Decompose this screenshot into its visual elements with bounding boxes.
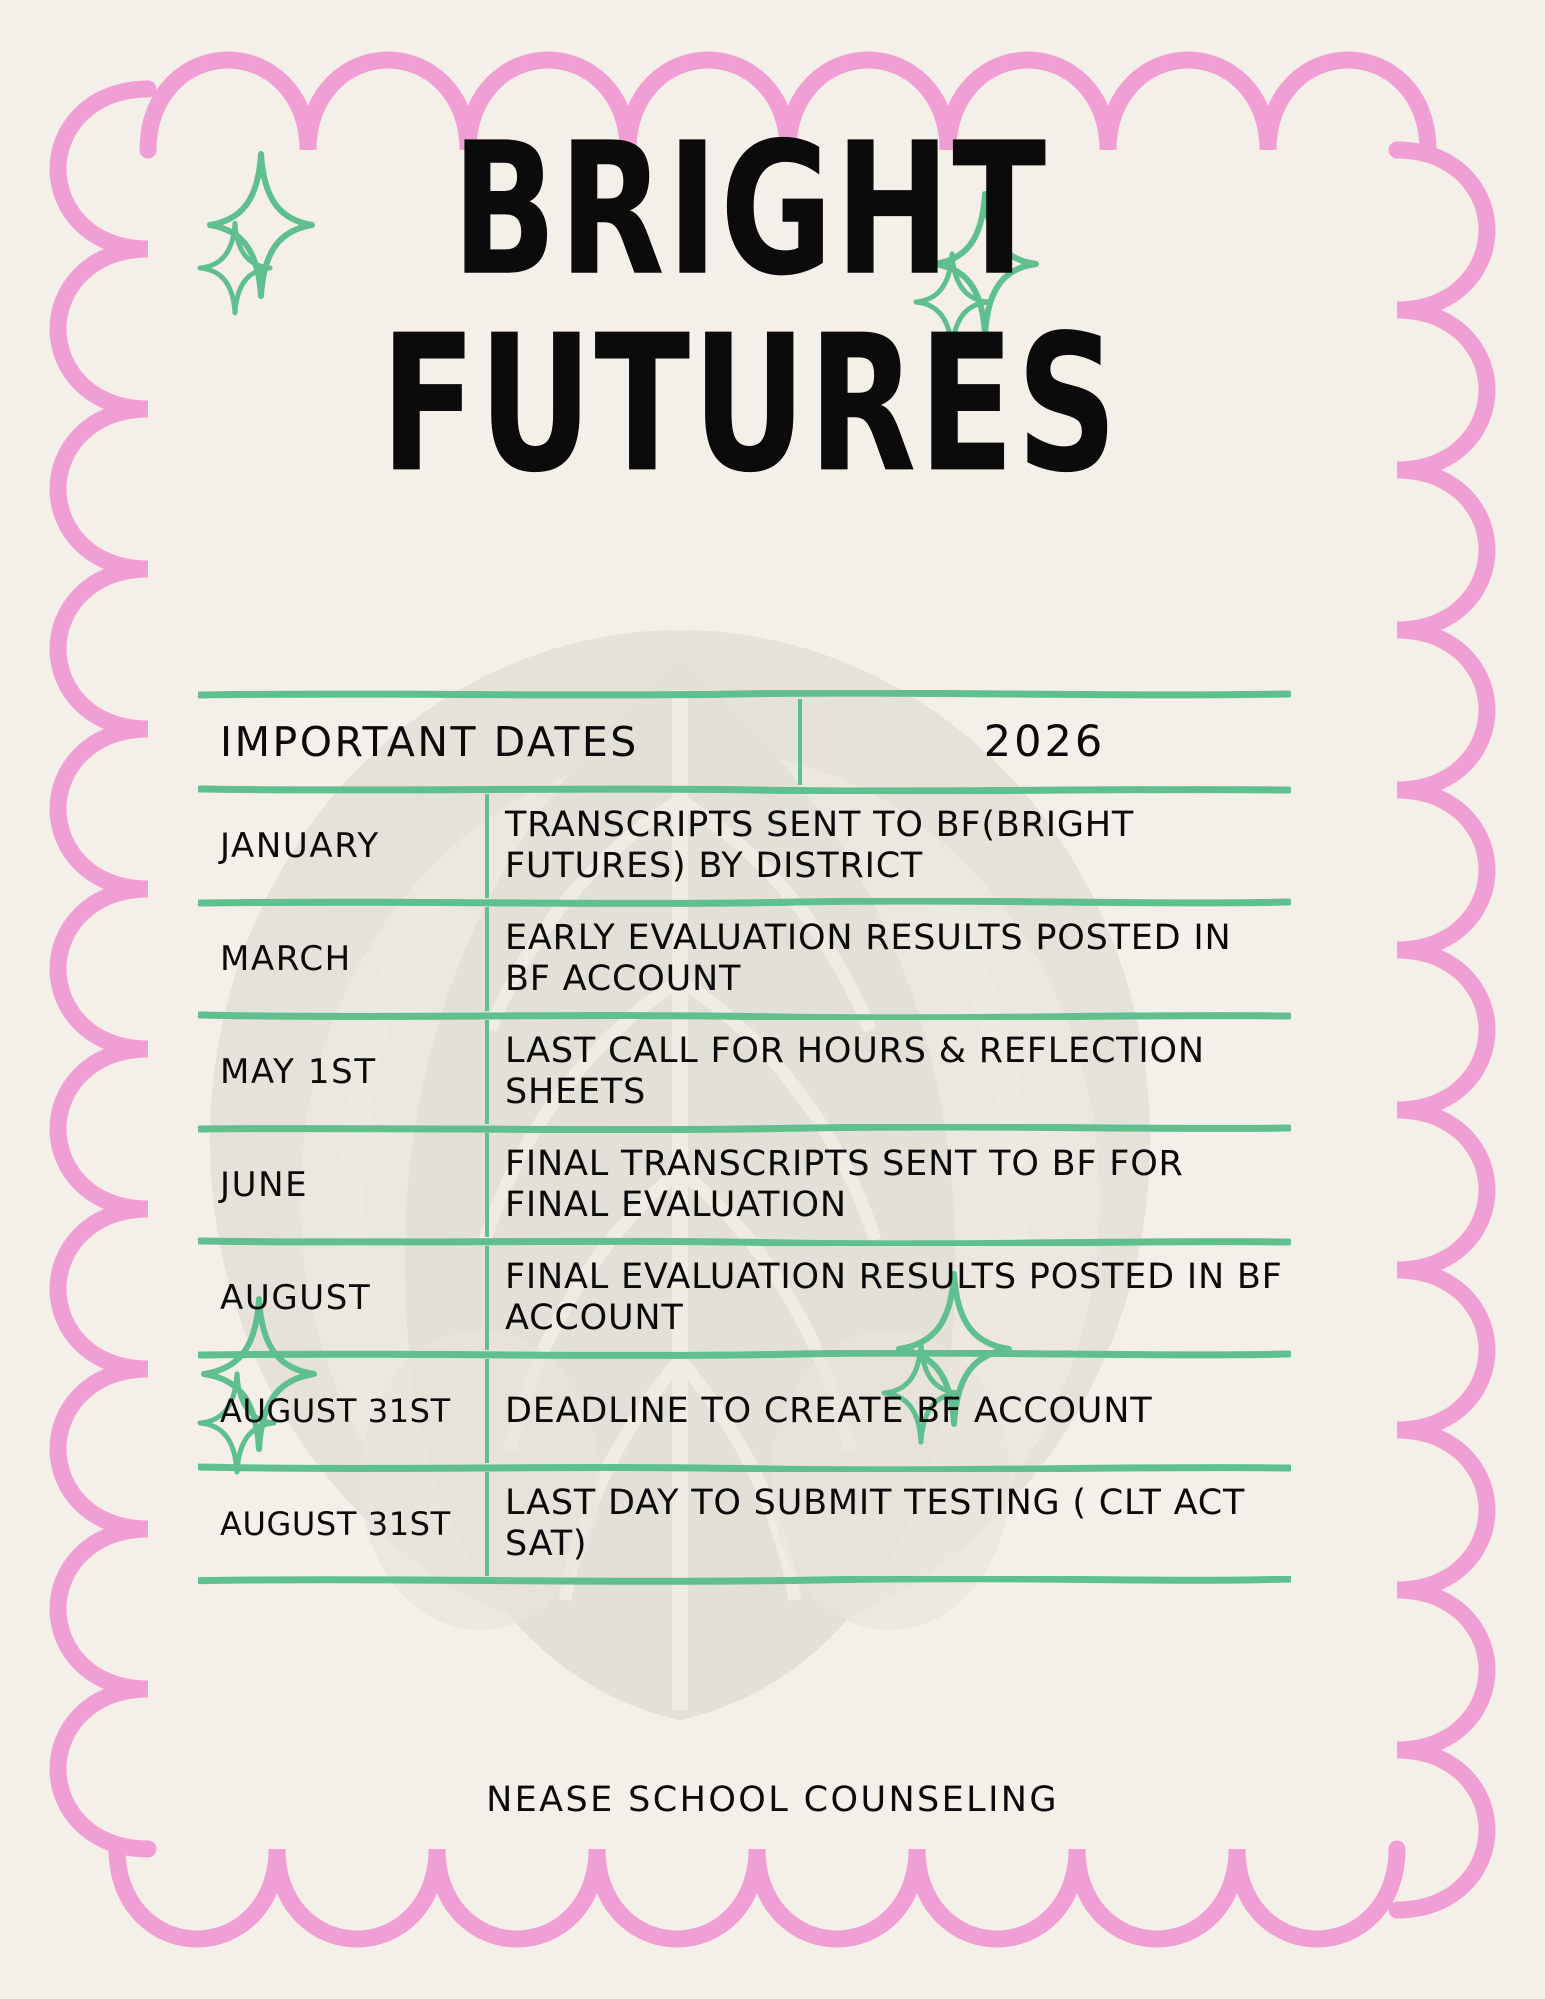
month-label: JUNE [220,1165,308,1205]
month-label: AUGUST [220,1278,371,1318]
table-row: JANUARY TRANSCRIPTS SENT TO BF(BRIGHT FU… [198,794,1291,898]
row-month-cell: JUNE [198,1165,485,1205]
row-detail-cell: FINAL TRANSCRIPTS SENT TO BF FOR FINAL E… [485,1144,1291,1225]
month-label: AUGUST 31ST [220,1505,451,1543]
detail-text: TRANSCRIPTS SENT TO BF(BRIGHT FUTURES) B… [505,805,1134,886]
table-rule-top [198,690,1291,699]
table-rule-2 [198,898,1291,907]
month-label: AUGUST 31ST [220,1392,451,1430]
table-row: MAY 1ST LAST CALL FOR HOURS & REFLECTION… [198,1020,1291,1124]
detail-text: EARLY EVALUATION RESULTS POSTED IN BF AC… [505,918,1231,999]
row-month-cell: AUGUST 31ST [198,1505,485,1543]
header-column-divider [798,699,802,785]
table-row: MARCH EARLY EVALUATION RESULTS POSTED IN… [198,907,1291,1011]
row-detail-cell: LAST DAY TO SUBMIT TESTING ( CLT ACT SAT… [485,1483,1291,1564]
row-detail-cell: LAST CALL FOR HOURS & REFLECTION SHEETS [485,1031,1291,1112]
row-detail-cell: TRANSCRIPTS SENT TO BF(BRIGHT FUTURES) B… [485,805,1291,886]
row-month-cell: AUGUST [198,1278,485,1318]
header-important-dates: IMPORTANT DATES [198,718,798,766]
row-column-divider [485,794,489,898]
month-label: MAY 1ST [220,1052,377,1092]
table-row: JUNE FINAL TRANSCRIPTS SENT TO BF FOR FI… [198,1133,1291,1237]
row-month-cell: MAY 1ST [198,1052,485,1092]
table-rule-6 [198,1350,1291,1359]
table-rule-3 [198,1011,1291,1020]
detail-text: LAST DAY TO SUBMIT TESTING ( CLT ACT SAT… [505,1483,1245,1564]
row-detail-cell: FINAL EVALUATION RESULTS POSTED IN BF AC… [485,1257,1291,1338]
row-column-divider [485,1359,489,1463]
table-rule-7 [198,1463,1291,1472]
detail-text: FINAL EVALUATION RESULTS POSTED IN BF AC… [505,1257,1283,1338]
row-detail-cell: EARLY EVALUATION RESULTS POSTED IN BF AC… [485,918,1291,999]
title-line-futures: FUTURES [282,322,1218,488]
row-detail-cell: DEADLINE TO CREATE BF ACCOUNT [485,1391,1291,1432]
detail-text: FINAL TRANSCRIPTS SENT TO BF FOR FINAL E… [505,1144,1184,1225]
table-header-row: IMPORTANT DATES 2026 [198,699,1291,785]
table-row: AUGUST FINAL EVALUATION RESULTS POSTED I… [198,1246,1291,1350]
footer: NEASE SCHOOL COUNSELING [0,1780,1545,1820]
row-month-cell: MARCH [198,939,485,979]
title-line-bright: BRIGHT [291,130,1209,291]
detail-text: DEADLINE TO CREATE BF ACCOUNT [505,1391,1152,1431]
table-row: AUGUST 31ST DEADLINE TO CREATE BF ACCOUN… [198,1359,1291,1463]
header-year: 2026 [798,717,1291,767]
row-column-divider [485,1133,489,1237]
important-dates-table: IMPORTANT DATES 2026 JANUARY TRANSCRIPTS… [198,690,1291,1585]
table-rule-1 [198,785,1291,794]
row-column-divider [485,1020,489,1124]
row-column-divider [485,1246,489,1350]
footer-organization: NEASE SCHOOL COUNSELING [486,1780,1059,1820]
poster-canvas: BRIGHT FUTURES IMPORTANT DATES 2026 JANU… [0,0,1545,1999]
month-label: MARCH [220,939,352,979]
row-month-cell: AUGUST 31ST [198,1392,485,1430]
detail-text: LAST CALL FOR HOURS & REFLECTION SHEETS [505,1031,1205,1112]
month-label: JANUARY [220,826,380,866]
poster-title: BRIGHT FUTURES [300,130,1200,454]
sparkle-top-left-small-icon [196,218,274,318]
row-month-cell: JANUARY [198,826,485,866]
table-row: AUGUST 31ST LAST DAY TO SUBMIT TESTING (… [198,1472,1291,1576]
row-column-divider [485,1472,489,1576]
row-column-divider [485,907,489,1011]
table-rule-bottom [198,1576,1291,1585]
table-rule-4 [198,1124,1291,1133]
table-rule-5 [198,1237,1291,1246]
